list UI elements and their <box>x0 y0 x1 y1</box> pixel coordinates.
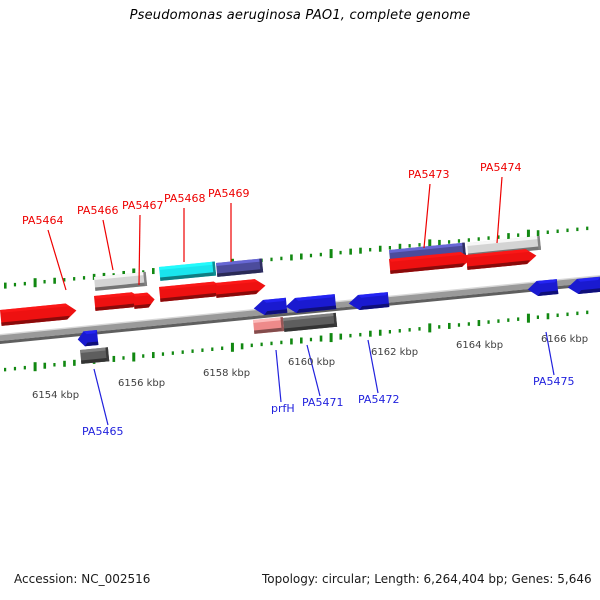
scale-tick <box>24 282 26 286</box>
scale-tick <box>448 240 450 244</box>
scale-tick <box>458 323 460 327</box>
scale-tick <box>369 248 371 252</box>
scale-tick <box>201 348 203 352</box>
scale-label: 6156 kbp <box>118 378 165 389</box>
scale-tick <box>507 233 510 239</box>
scale-tick <box>280 341 282 345</box>
gene-label-PA5473[interactable]: PA5473 <box>408 168 449 181</box>
scale-label: 6164 kbp <box>456 340 503 351</box>
scale-tick <box>507 318 509 322</box>
scale-tick <box>63 361 66 367</box>
scale-tick <box>24 366 26 370</box>
leader-line-PA5471 <box>307 345 320 396</box>
scale-tick <box>537 230 540 236</box>
scale-tick <box>300 254 303 260</box>
scale-tick <box>468 238 470 242</box>
gene-label-PA5464[interactable]: PA5464 <box>22 214 63 227</box>
scale-tick <box>152 352 155 358</box>
PA5471-domain[interactable] <box>283 313 337 332</box>
gene-label-prfH[interactable]: prfH <box>271 402 295 415</box>
scale-tick <box>310 254 312 258</box>
scale-tick <box>320 253 322 257</box>
scale-tick <box>270 342 272 346</box>
scale-tick <box>458 239 460 243</box>
leader-line-prfH <box>276 350 281 402</box>
genome-map: PA5464PA5466PA5467PA5468PA5469PA5473PA54… <box>0 0 600 600</box>
scale-tick <box>537 315 539 319</box>
scale-tick <box>330 333 333 342</box>
scale-tick <box>409 244 411 248</box>
scale-tick <box>43 280 45 284</box>
scale-tick <box>359 248 362 254</box>
scale-label: 6158 kbp <box>203 368 250 379</box>
gene-PA5467[interactable] <box>133 292 155 309</box>
scale-tick <box>14 367 16 371</box>
gene-PA5464[interactable] <box>0 303 77 326</box>
scale-tick <box>389 330 391 334</box>
gene-label-PA5474[interactable]: PA5474 <box>480 161 521 174</box>
leader-line-PA5474 <box>497 177 502 243</box>
scale-tick <box>211 347 213 351</box>
scale-tick <box>487 320 489 324</box>
scale-tick <box>497 319 499 323</box>
scale-tick <box>586 311 588 315</box>
scale-tick <box>566 313 568 317</box>
scale-tick <box>53 363 55 367</box>
scale-tick <box>4 368 6 372</box>
gene-label-PA5475[interactable]: PA5475 <box>533 375 574 388</box>
scale-tick <box>290 254 293 260</box>
gene-label-PA5472[interactable]: PA5472 <box>358 393 399 406</box>
scale-tick <box>310 338 312 342</box>
scale-tick <box>576 312 578 316</box>
scale-tick <box>379 246 382 252</box>
scale-tick <box>14 283 16 287</box>
scale-label: 6154 kbp <box>32 390 79 401</box>
scale-labels: 6154 kbp6156 kbp6158 kbp6160 kbp6162 kbp… <box>32 334 588 401</box>
scale-tick <box>73 277 75 281</box>
scale-tick <box>428 323 431 332</box>
scale-tick <box>172 351 174 355</box>
scale-label: 6166 kbp <box>541 334 588 345</box>
scale-tick <box>349 249 352 255</box>
scale-tick <box>448 323 451 329</box>
leader-line-PA5465 <box>94 369 108 425</box>
scale-tick <box>241 343 244 349</box>
scale-tick <box>349 334 351 338</box>
scale-tick <box>53 278 56 284</box>
scale-tick <box>547 230 549 234</box>
scale-tick <box>142 354 144 358</box>
scale-tick <box>418 327 420 331</box>
gene-label-PA5465[interactable]: PA5465 <box>82 425 123 438</box>
genome-stats-text: Topology: circular; Length: 6,264,404 bp… <box>262 572 592 586</box>
scale-tick <box>270 258 272 262</box>
scale-tick <box>468 322 470 326</box>
scale-label: 6162 kbp <box>371 347 418 358</box>
scale-tick <box>576 228 578 232</box>
scale-tick <box>191 349 193 353</box>
gene-labels-top: PA5464PA5466PA5467PA5468PA5469PA5473PA54… <box>22 161 521 227</box>
scale-tick <box>300 338 303 344</box>
scale-tick <box>280 257 282 261</box>
scale-tick <box>557 230 559 234</box>
leader-line-PA5466 <box>103 220 113 270</box>
scale-tick <box>231 343 234 352</box>
prfH-domain[interactable] <box>253 317 284 334</box>
PA5465-domain[interactable] <box>80 347 109 364</box>
scale-tick <box>290 338 293 344</box>
scale-tick <box>113 356 116 362</box>
scale-tick <box>379 330 382 336</box>
scale-tick <box>320 336 323 342</box>
scale-tick <box>547 313 550 319</box>
PA5469-domain[interactable] <box>216 258 263 276</box>
scale-tick <box>132 352 135 361</box>
scale-tick <box>251 344 253 348</box>
gene-label-PA5467[interactable]: PA5467 <box>122 199 163 212</box>
scale-tick <box>4 283 7 289</box>
scale-tick <box>418 243 420 247</box>
gene-label-PA5469[interactable]: PA5469 <box>208 187 249 200</box>
scale-tick <box>478 320 481 326</box>
scale-tick <box>34 362 37 371</box>
scale-tick <box>438 325 440 329</box>
scale-tick <box>122 356 124 360</box>
gene-label-PA5471[interactable]: PA5471 <box>302 396 343 409</box>
accession-text: Accession: NC_002516 <box>14 572 150 586</box>
scale-tick <box>43 363 46 369</box>
scale-tick <box>162 352 164 356</box>
leader-line-PA5473 <box>424 184 430 248</box>
scale-tick <box>517 233 519 237</box>
scale-tick <box>182 350 184 354</box>
scale-tick <box>34 278 37 287</box>
scale-tick <box>369 331 372 337</box>
scale-tick <box>557 314 559 318</box>
scale-label: 6160 kbp <box>288 357 335 368</box>
scale-tick <box>221 347 223 351</box>
scale-tick <box>527 314 530 323</box>
scale-tick <box>586 227 588 231</box>
scale-tick <box>73 360 76 366</box>
scale-tick <box>152 268 155 274</box>
scale-tick <box>261 343 263 347</box>
gene-PA5469[interactable] <box>215 278 266 298</box>
scale-tick <box>566 229 568 233</box>
genome-viewer-canvas: Pseudomonas aeruginosa PAO1, complete ge… <box>0 0 600 600</box>
scale-tick <box>389 246 391 250</box>
scale-tick <box>359 333 361 337</box>
gene-label-PA5466[interactable]: PA5466 <box>77 204 118 217</box>
leader-line-PA5464 <box>48 230 66 290</box>
scale-tick <box>517 317 519 321</box>
scale-tick <box>478 237 480 241</box>
scale-tick <box>399 329 401 333</box>
scale-tick <box>339 251 341 255</box>
gene-label-PA5468[interactable]: PA5468 <box>164 192 205 205</box>
scale-tick <box>487 236 489 240</box>
PA5468-domain[interactable] <box>159 262 216 281</box>
scale-tick <box>339 334 342 340</box>
scale-tick <box>330 249 333 258</box>
scale-tick <box>83 276 85 280</box>
scale-tick <box>409 328 411 332</box>
